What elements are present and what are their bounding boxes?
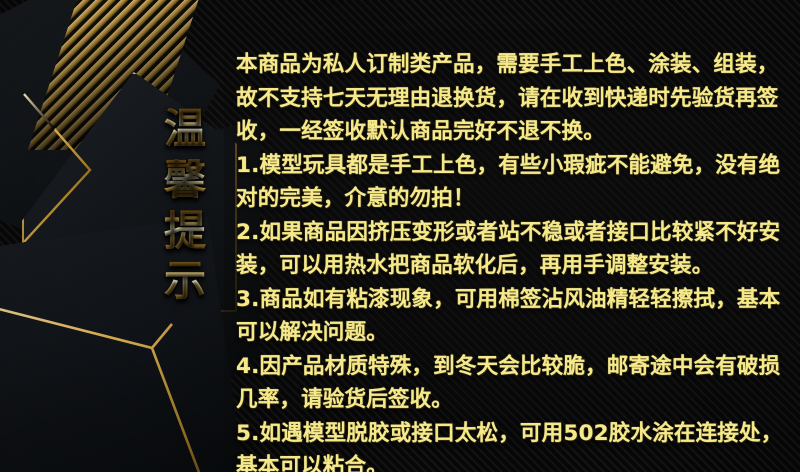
notice-line: 对的完美，介意的勿拍！ [236,182,792,216]
notice-line: 装，可以用热水把商品软化后，再用手调整安装。 [236,249,792,283]
headline-char-3: 提 [164,210,206,253]
notice-line: 3.商品如有粘漆现象，可用棉签沾风油精轻轻擦拭，基本 [236,283,792,317]
notice-banner: 温 馨 提 示 本商品为私人订制类产品，需要手工上色、涂装、组装， 故不支持七天… [0,0,800,472]
notice-text-block: 本商品为私人订制类产品，需要手工上色、涂装、组装， 故不支持七天无理由退换货，请… [236,48,792,472]
notice-line: 2.如果商品因挤压变形或者站不稳或者接口比较紧不好安 [236,216,792,250]
notice-line: 基本可以粘合。 [236,450,792,472]
notice-line: 收，一经签收默认商品完好不退不换。 [236,115,792,149]
headline-vertical-warm-tips: 温 馨 提 示 [152,108,218,303]
notice-line: 可以解决问题。 [236,316,792,350]
headline-char-4: 示 [164,260,206,303]
notice-line: 故不支持七天无理由退换货，请在收到快递时先验货再签 [236,82,792,116]
notice-line: 5.如遇模型脱胶或接口太松，可用502胶水涂在连接处， [236,417,792,451]
notice-line: 本商品为私人订制类产品，需要手工上色、涂装、组装， [236,48,792,82]
headline-char-2: 馨 [164,159,206,202]
headline-char-1: 温 [164,108,206,151]
notice-line: 4.因产品材质特殊，到冬天会比较脆，邮寄途中会有破损 [236,350,792,384]
notice-line: 几率，请验货后签收。 [236,383,792,417]
notice-line: 1.模型玩具都是手工上色，有些小瑕疵不能避免，没有绝 [236,149,792,183]
